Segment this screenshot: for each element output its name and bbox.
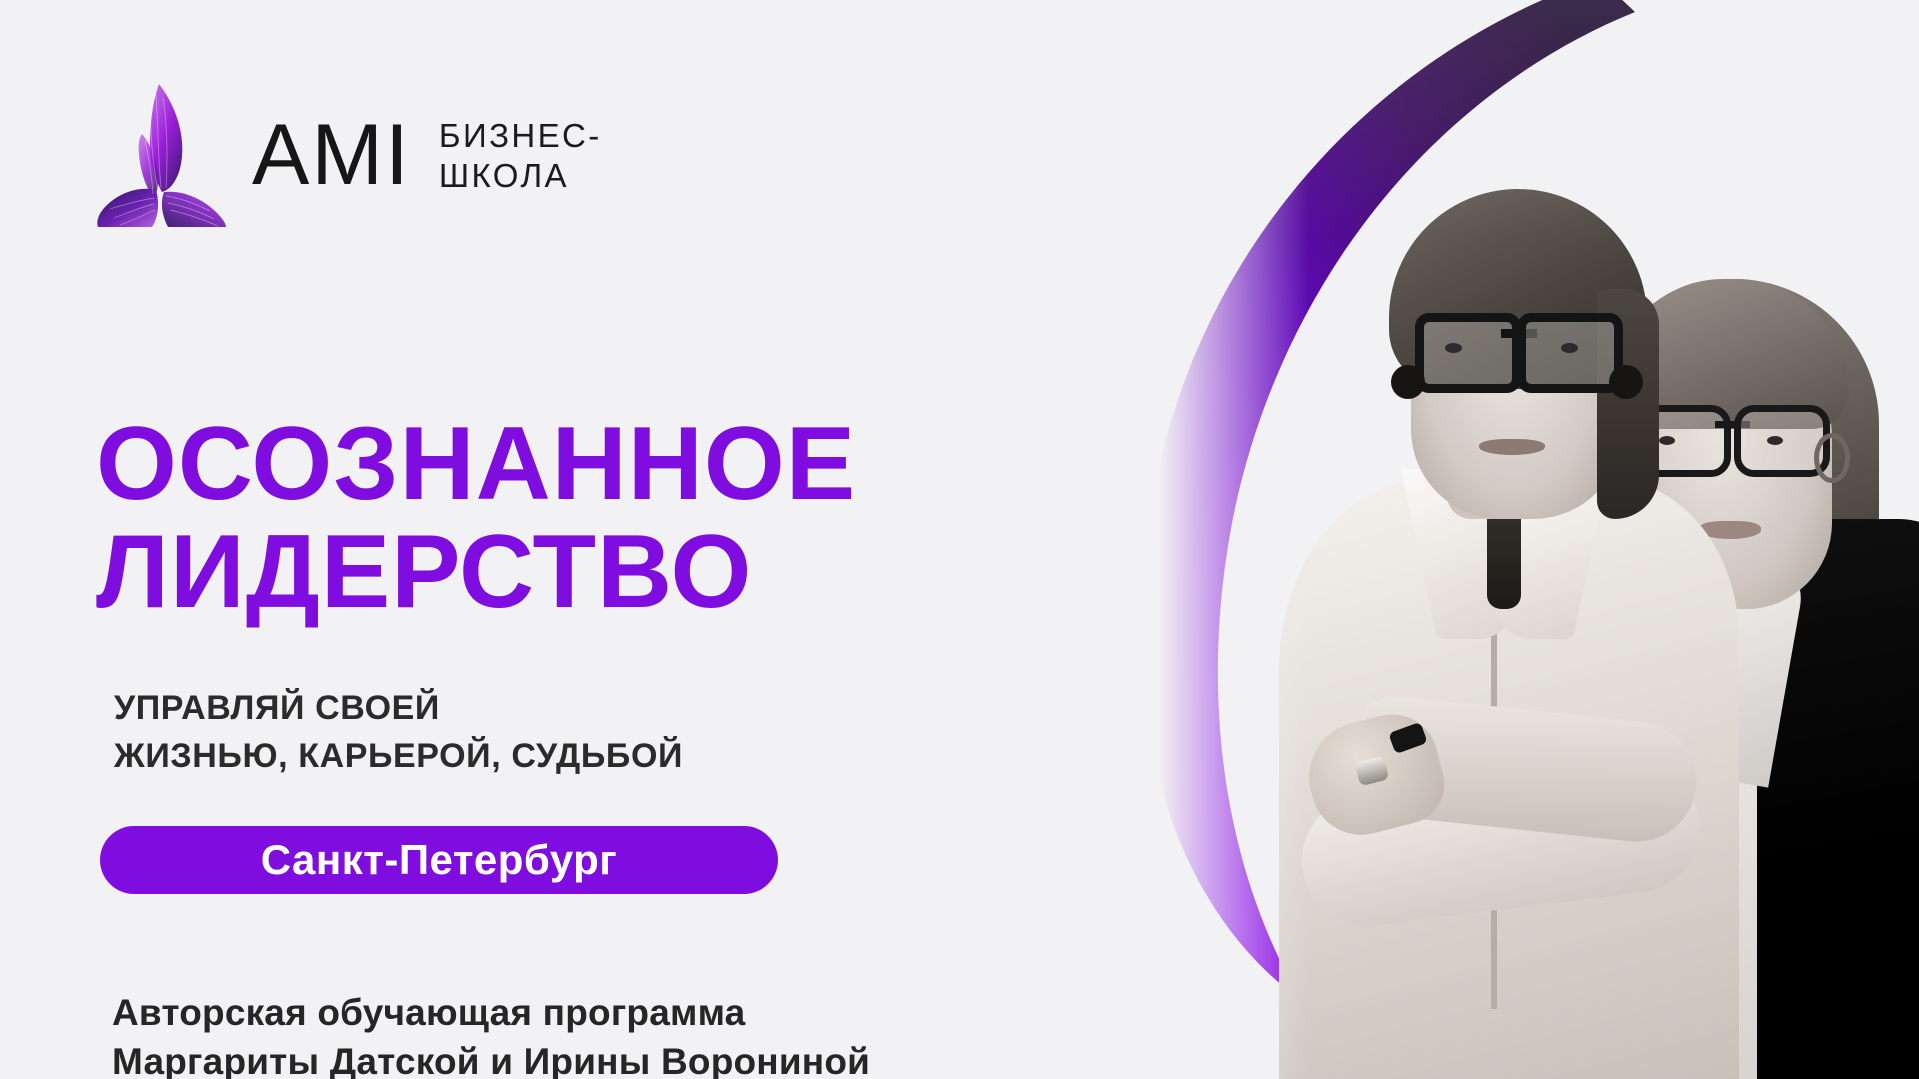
logo-subtitle: БИЗНЕС- ШКОЛА bbox=[439, 116, 602, 197]
tagline: УПРАВЛЯЙ СВОЕЙ ЖИЗНЬЮ, КАРЬЕРОЙ, СУДЬБОЙ bbox=[114, 684, 683, 781]
content-column: AMI БИЗНЕС- ШКОЛА ОСОЗНАННОЕ ЛИДЕРСТВО У… bbox=[0, 0, 1000, 1079]
iris-flower-icon bbox=[96, 78, 242, 228]
headline-line-2: ЛИДЕРСТВО bbox=[96, 518, 856, 626]
eye-right bbox=[1561, 343, 1578, 353]
photo-panel bbox=[1159, 0, 1919, 1079]
earring-right bbox=[1609, 365, 1643, 399]
duo-portrait-photo bbox=[1279, 99, 1919, 1079]
eye-right bbox=[1767, 436, 1783, 445]
poster-root: AMI БИЗНЕС- ШКОЛА ОСОЗНАННОЕ ЛИДЕРСТВО У… bbox=[0, 0, 1919, 1079]
person-left-margarita bbox=[1279, 119, 1749, 1079]
logo-wordmark: AMI bbox=[252, 112, 411, 198]
eye-left bbox=[1445, 343, 1462, 353]
city-badge-saint-petersburg[interactable]: Санкт-Петербург bbox=[100, 826, 778, 894]
mouth bbox=[1479, 439, 1545, 455]
page-title: ОСОЗНАННОЕ ЛИДЕРСТВО bbox=[96, 410, 856, 626]
earring bbox=[1814, 433, 1850, 483]
brand-logo[interactable]: AMI БИЗНЕС- ШКОЛА bbox=[96, 78, 602, 228]
earring-left bbox=[1391, 365, 1425, 399]
headline-line-1: ОСОЗНАННОЕ bbox=[96, 406, 856, 522]
program-authors-credit: Авторская обучающая программа Маргариты … bbox=[112, 989, 870, 1079]
